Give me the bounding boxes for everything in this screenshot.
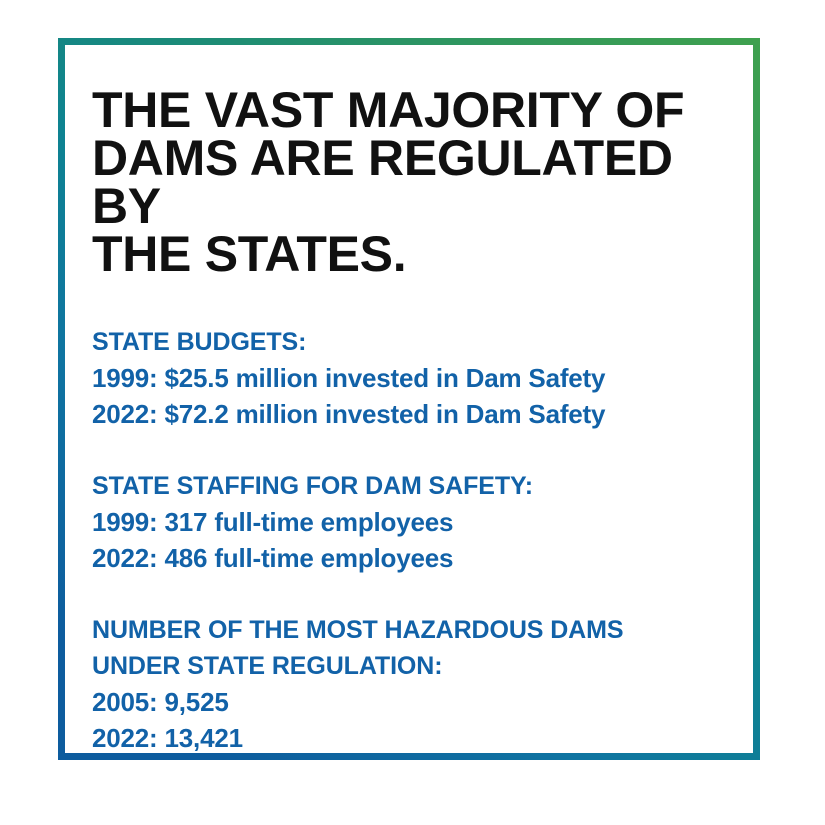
section-heading: NUMBER OF THE MOST HAZARDOUS DAMS UNDER …: [92, 612, 742, 684]
section-heading: STATE BUDGETS:: [92, 324, 742, 360]
stat-line: 2022: $72.2 million invested in Dam Safe…: [92, 396, 742, 432]
infographic-card: THE VAST MAJORITY OF DAMS ARE REGULATED …: [0, 0, 825, 825]
section-hazardous-dams: NUMBER OF THE MOST HAZARDOUS DAMS UNDER …: [92, 612, 742, 756]
section-state-budgets: STATE BUDGETS: 1999: $25.5 million inves…: [92, 324, 742, 432]
stat-line: 2005: 9,525: [92, 684, 742, 720]
page-title: THE VAST MAJORITY OF DAMS ARE REGULATED …: [92, 38, 742, 278]
stat-line: 1999: 317 full-time employees: [92, 504, 742, 540]
section-heading: STATE STAFFING FOR DAM SAFETY:: [92, 468, 742, 504]
statistics-sections: STATE BUDGETS: 1999: $25.5 million inves…: [92, 324, 742, 756]
section-state-staffing: STATE STAFFING FOR DAM SAFETY: 1999: 317…: [92, 468, 742, 576]
stat-line: 2022: 13,421: [92, 720, 742, 756]
stat-line: 2022: 486 full-time employees: [92, 540, 742, 576]
card-content: THE VAST MAJORITY OF DAMS ARE REGULATED …: [92, 38, 742, 756]
stat-line: 1999: $25.5 million invested in Dam Safe…: [92, 360, 742, 396]
